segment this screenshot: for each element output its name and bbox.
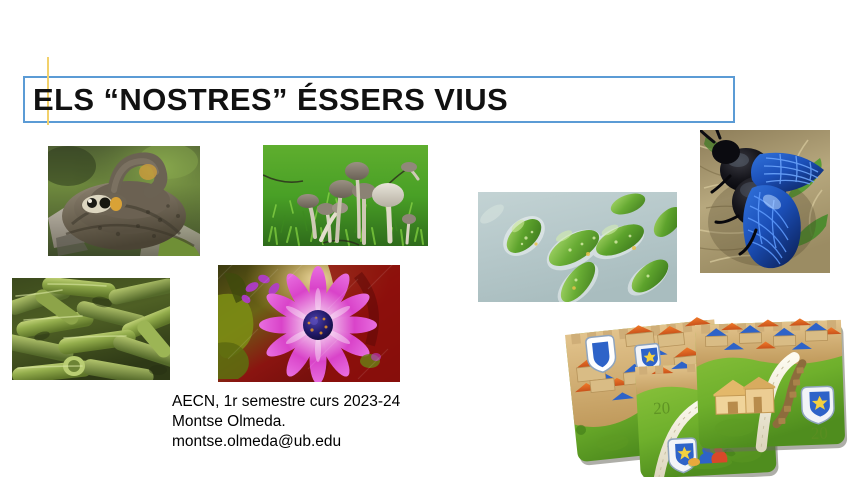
caption-line-email: montse.olmeda@ub.edu — [172, 432, 400, 452]
svg-text:20: 20 — [653, 398, 671, 418]
photo-euglena — [478, 192, 677, 302]
svg-text:20: 20 — [811, 423, 829, 443]
slide-canvas: ELS “NOSTRES” ÉSSERS VIUS — [0, 0, 848, 477]
caption-line-course: AECN, 1r semestre curs 2023-24 — [172, 392, 400, 412]
photo-flower — [218, 265, 400, 382]
mushroom-illustration — [263, 145, 428, 246]
photo-mushrooms — [263, 145, 428, 246]
carcassonne-tiles-illustration: 20 — [557, 305, 848, 477]
caption-block: AECN, 1r semestre curs 2023-24 Montse Ol… — [172, 392, 400, 452]
snake-illustration — [48, 146, 200, 256]
photo-boardgame-tiles: 20 — [557, 305, 848, 477]
bee-illustration — [700, 130, 830, 273]
page-title: ELS “NOSTRES” ÉSSERS VIUS — [33, 79, 733, 121]
photo-bacteria — [12, 278, 170, 380]
flower-illustration — [218, 265, 400, 382]
bacteria-illustration — [12, 278, 170, 380]
photo-snake — [48, 146, 200, 256]
photo-bee — [700, 130, 830, 273]
euglena-illustration — [478, 192, 677, 302]
caption-line-author: Montse Olmeda. — [172, 412, 400, 432]
